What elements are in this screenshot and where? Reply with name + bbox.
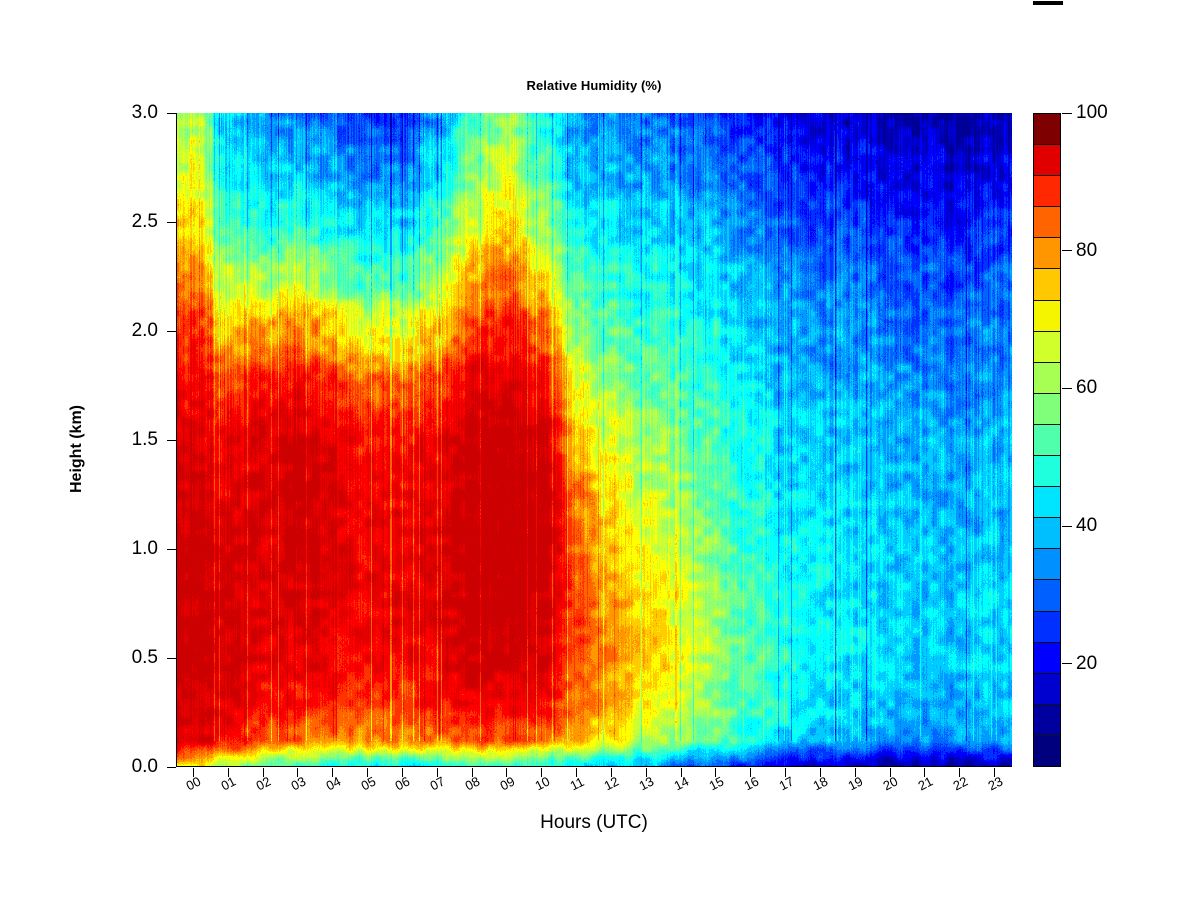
y-tick-mark [167,113,176,114]
y-tick-mark [167,767,176,768]
x-axis-title: Hours (UTC) [176,812,1012,834]
colorbar-band [1034,207,1060,238]
y-tick-mark [167,440,176,441]
figure-canvas: Relative Humidity (%) 0.00.51.01.52.02.5… [0,0,1200,900]
x-tick-label: 18 [811,774,830,792]
x-tick-label: 06 [393,774,412,792]
colorbar-bands [1033,113,1061,767]
colorbar-band [1034,674,1060,705]
colorbar-tick-label: 40 [1076,516,1097,535]
colorbar-band [1034,114,1060,145]
page-title: Relative Humidity (%) [176,78,1012,93]
x-tick-label: 11 [568,775,586,793]
colorbar-band [1034,301,1060,332]
x-tick-label: 15 [707,774,726,792]
colorbar-band [1034,643,1060,674]
y-tick-mark [167,331,176,332]
colorbar-band [1034,736,1060,766]
x-tick-label: 09 [498,774,517,792]
x-tick-label: 21 [916,774,935,792]
y-tick-label: 2.0 [98,321,158,340]
x-tick-label: 22 [951,774,970,792]
x-tick-label: 01 [219,774,238,792]
colorbar-band [1034,705,1060,736]
render-artifact-bar [1033,1,1063,5]
y-tick-label: 1.5 [98,430,158,449]
x-tick-label: 04 [324,774,343,792]
colorbar-band [1034,363,1060,394]
x-tick-label: 02 [254,774,273,792]
colorbar-band [1034,487,1060,518]
x-tick-label: 16 [742,774,761,792]
y-tick-label: 1.0 [98,539,158,558]
colorbar-band [1034,549,1060,580]
colorbar [1033,113,1061,767]
x-tick-label: 00 [184,774,203,792]
colorbar-band [1034,176,1060,207]
colorbar-tick-mark [1062,250,1072,251]
colorbar-band [1034,238,1060,269]
x-tick-label: 19 [846,774,865,792]
colorbar-tick-label: 20 [1076,654,1097,673]
colorbar-band [1034,580,1060,611]
colorbar-band [1034,612,1060,643]
colorbar-band [1034,269,1060,300]
colorbar-tick-label: 100 [1076,103,1108,122]
x-tick-label: 10 [533,774,552,792]
colorbar-band [1034,145,1060,176]
colorbar-band [1034,456,1060,487]
colorbar-tick-mark [1062,388,1072,389]
y-axis-title: Height (km) [68,364,86,534]
colorbar-band [1034,518,1060,549]
colorbar-tick-mark [1062,663,1072,664]
x-tick-label: 13 [637,774,656,792]
y-tick-label: 3.0 [98,103,158,122]
colorbar-tick-label: 60 [1076,378,1097,397]
colorbar-band [1034,394,1060,425]
colorbar-tick-mark [1062,526,1072,527]
colorbar-tick-mark [1062,113,1072,114]
x-tick-label: 23 [986,774,1005,792]
relative-humidity-heatmap [176,113,1012,767]
x-tick-label: 14 [672,774,691,792]
x-tick-label: 07 [428,774,447,792]
y-tick-mark [167,222,176,223]
x-tick-label: 08 [463,774,482,792]
heatmap-plot-area [176,113,1012,767]
x-tick-label: 03 [289,774,308,792]
y-tick-label: 0.5 [98,648,158,667]
colorbar-band [1034,332,1060,363]
x-tick-label: 12 [602,774,621,792]
x-tick-label: 05 [359,774,378,792]
colorbar-band [1034,425,1060,456]
y-tick-mark [167,549,176,550]
colorbar-tick-label: 80 [1076,241,1097,260]
y-tick-mark [167,658,176,659]
y-tick-label: 0.0 [98,757,158,776]
x-tick-label: 20 [881,774,900,792]
y-tick-label: 2.5 [98,212,158,231]
x-tick-label: 17 [777,774,796,792]
